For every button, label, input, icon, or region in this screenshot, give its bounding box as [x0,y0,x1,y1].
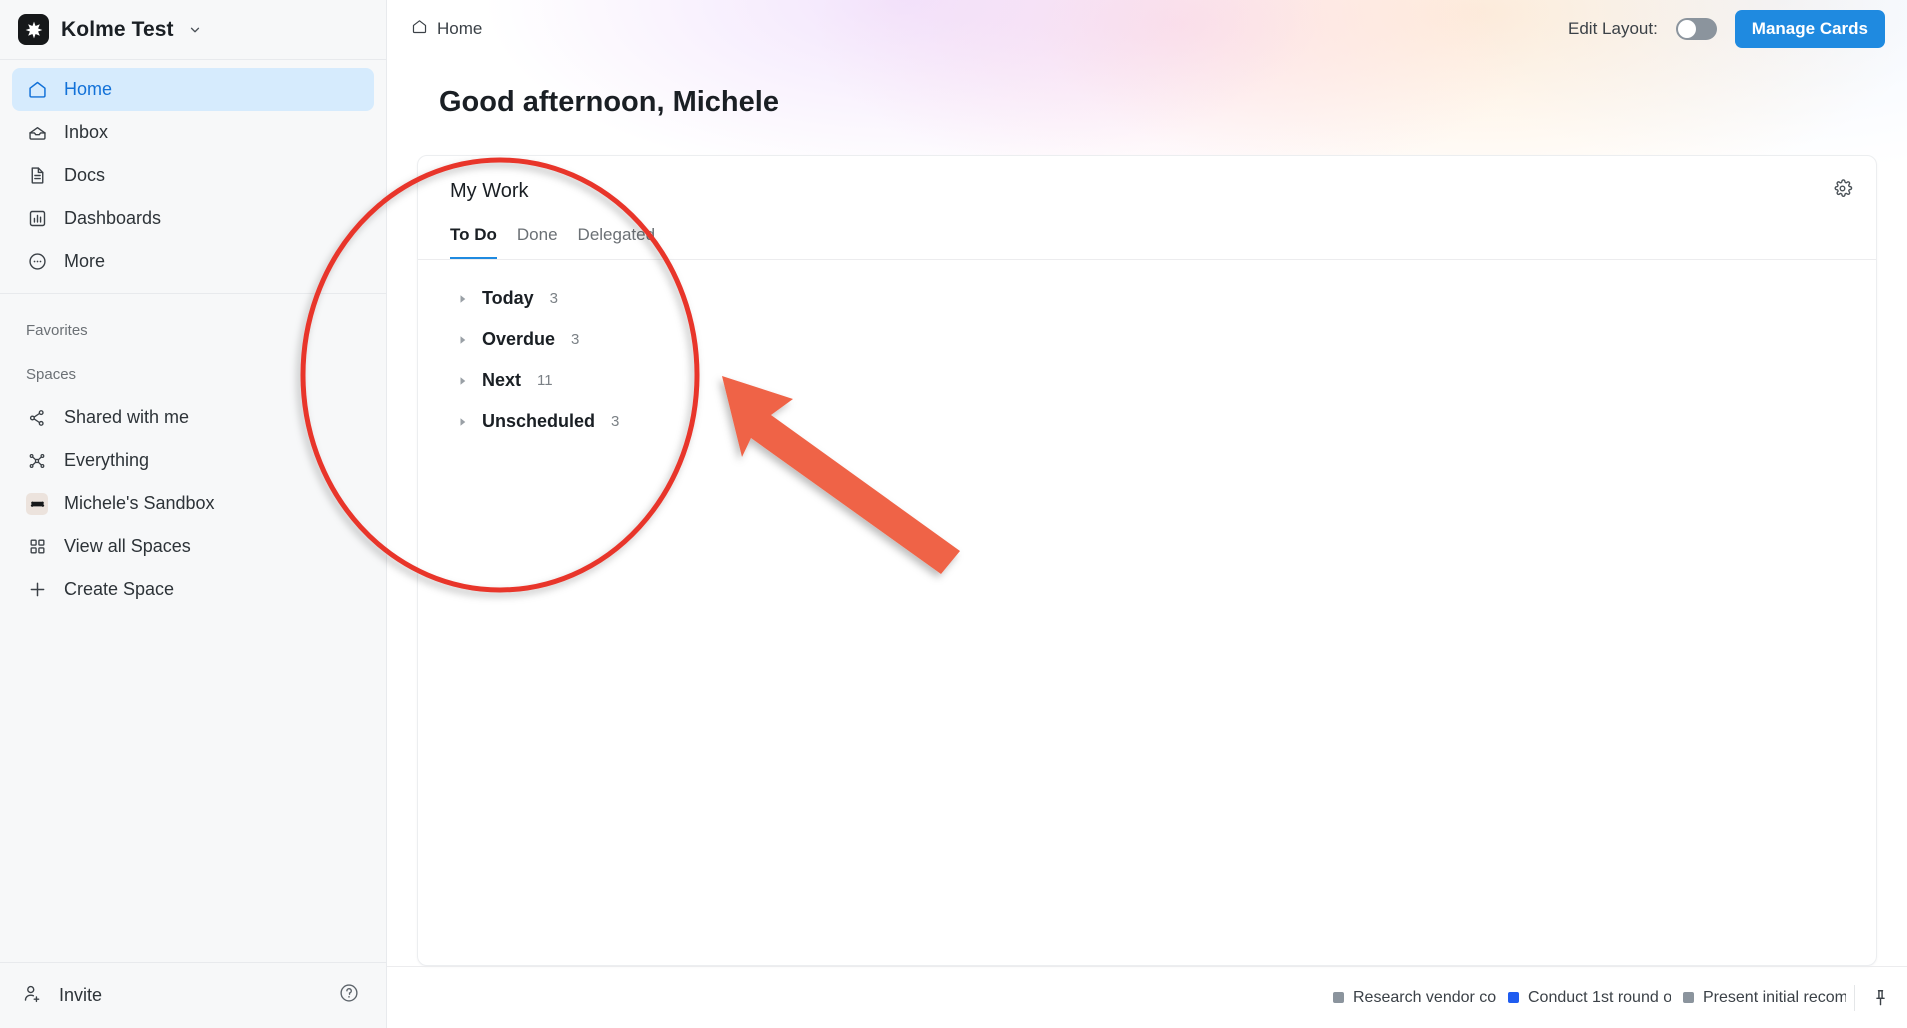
group-name: Overdue [482,329,555,350]
sidebar-item-micheles-sandbox[interactable]: Michele's Sandbox [0,482,386,525]
group-count: 11 [537,372,553,389]
sidebar-footer: Invite [0,962,386,1028]
app-root: Kolme Test Home Inbox [0,0,1907,1028]
breadcrumb-label: Home [437,19,482,39]
group-row-overdue[interactable]: Overdue 3 [450,319,718,360]
group-name: Today [482,288,534,309]
breadcrumb[interactable]: Home [411,18,482,40]
hierarchy-icon [26,450,48,472]
sidebar-item-label: Home [64,79,112,100]
workspace-name: Kolme Test [61,18,174,42]
group-row-next[interactable]: Next 11 [450,360,718,401]
sidebar-item-everything[interactable]: Everything [0,439,386,482]
question-circle-icon[interactable] [338,982,360,1009]
bar-chart-icon [26,208,48,230]
my-work-tabs: To Do Done Delegated [450,225,718,260]
plus-icon [26,579,48,601]
sidebar: Kolme Test Home Inbox [0,0,387,1028]
sidebar-item-create-space[interactable]: Create Space [0,568,386,611]
task-chip-label: Present initial recommendations [1703,989,1846,1007]
group-name: Next [482,370,521,391]
status-dot-icon [1333,992,1344,1003]
edit-layout-toggle[interactable] [1676,18,1717,40]
sidebar-item-label: Inbox [64,122,108,143]
sidebar-item-home[interactable]: Home [12,68,374,111]
share-nodes-icon [26,407,48,429]
status-dot-icon [1508,992,1519,1003]
sidebar-item-label: Shared with me [64,407,189,428]
bottom-task-bar: Research vendor cost estimates Conduct 1… [387,966,1907,1028]
sidebar-item-label: Michele's Sandbox [64,493,215,514]
invite-label: Invite [59,985,102,1006]
spaces-heading: Spaces [0,352,386,396]
caret-right-icon[interactable] [458,376,472,386]
workspace-switcher[interactable]: Kolme Test [0,0,386,60]
home-icon [411,18,428,40]
sidebar-item-label: Everything [64,450,149,471]
sidebar-item-dashboards[interactable]: Dashboards [12,197,374,240]
sidebar-item-label: Create Space [64,579,174,600]
ellipsis-circle-icon [26,251,48,273]
task-chip[interactable]: Present initial recommendations [1671,989,1846,1007]
invite-button[interactable]: Invite [22,983,102,1009]
favorites-heading: Favorites [0,308,386,352]
gear-icon[interactable] [1828,174,1856,202]
tabs-divider [418,259,1877,260]
tab-done[interactable]: Done [517,225,558,260]
group-count: 3 [571,331,579,348]
sidebar-spacer [0,611,386,962]
group-count: 3 [550,290,558,307]
sidebar-item-inbox[interactable]: Inbox [12,111,374,154]
toggle-knob [1678,20,1696,38]
tab-to-do[interactable]: To Do [450,225,497,260]
spaces-section: Favorites Spaces Shared with me Everythi… [0,294,386,611]
pin-icon[interactable] [1863,981,1897,1015]
home-icon [26,79,48,101]
inbox-icon [26,122,48,144]
sidebar-item-more[interactable]: More [12,240,374,283]
primary-nav: Home Inbox Docs Dashboards [0,60,386,294]
divider [1854,985,1855,1011]
sidebar-item-shared-with-me[interactable]: Shared with me [0,396,386,439]
sparkle-logo-icon [18,14,49,45]
sidebar-item-view-all-spaces[interactable]: View all Spaces [0,525,386,568]
caret-right-icon[interactable] [458,335,472,345]
task-chip[interactable]: Research vendor cost estimates [1321,989,1496,1007]
top-bar-actions: Edit Layout: Manage Cards [1568,10,1885,48]
home-board: My Work To Do Done Delegated Today 3 [417,155,1877,966]
caret-right-icon[interactable] [458,417,472,427]
group-name: Unscheduled [482,411,595,432]
edit-layout-label: Edit Layout: [1568,19,1658,39]
sidebar-item-label: More [64,251,105,272]
tab-delegated[interactable]: Delegated [578,225,656,260]
bone-avatar-icon [26,493,48,515]
user-plus-icon [22,983,43,1009]
group-row-unscheduled[interactable]: Unscheduled 3 [450,401,718,442]
manage-cards-button[interactable]: Manage Cards [1735,10,1885,48]
task-chip-label: Conduct 1st round of interviews [1528,989,1671,1007]
my-work-card: My Work To Do Done Delegated Today 3 [418,156,718,442]
grid-icon [26,536,48,558]
sidebar-item-label: Docs [64,165,105,186]
status-dot-icon [1683,992,1694,1003]
caret-right-icon[interactable] [458,294,472,304]
task-chip-label: Research vendor cost estimates [1353,989,1496,1007]
sidebar-item-label: Dashboards [64,208,161,229]
task-chip[interactable]: Conduct 1st round of interviews [1496,989,1671,1007]
page-title: Good afternoon, Michele [387,58,1907,119]
chevron-down-icon[interactable] [188,23,202,37]
my-work-group-list: Today 3 Overdue 3 Next [450,278,718,442]
sidebar-item-label: View all Spaces [64,536,191,557]
top-bar: Home Edit Layout: Manage Cards [387,0,1907,58]
card-title: My Work [450,180,718,203]
document-icon [26,165,48,187]
group-count: 3 [611,413,619,430]
sidebar-item-docs[interactable]: Docs [12,154,374,197]
main-content: Home Edit Layout: Manage Cards Good afte… [387,0,1907,1028]
group-row-today[interactable]: Today 3 [450,278,718,319]
